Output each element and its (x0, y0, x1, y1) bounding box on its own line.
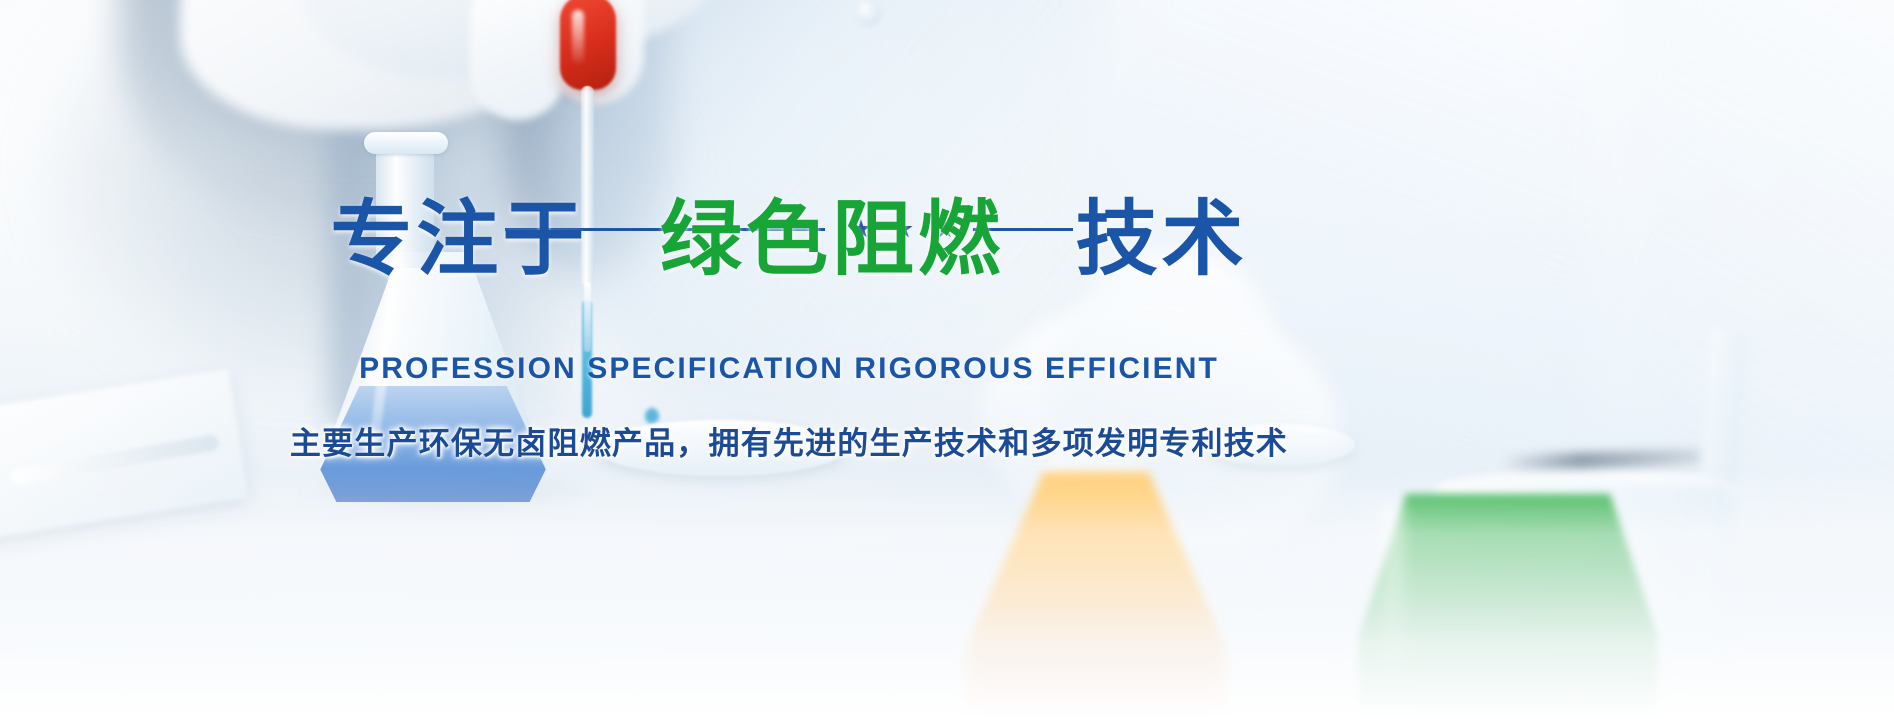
headline-part-2: 绿色阻燃 (660, 194, 1004, 285)
headline: 专注于 绿色阻燃 技术 (0, 196, 1578, 285)
headline-part-1: 专注于 (330, 194, 588, 285)
headline-part-3: 技术 (1076, 194, 1248, 285)
banner-content: 专注于 绿色阻燃 技术 PROFESSION SPECIFICATION RIG… (0, 0, 1894, 719)
tagline-chinese: 主要生产环保无卤阻燃产品，拥有先进的生产技术和多项发明专利技术 (0, 418, 1578, 463)
subtitle-english: PROFESSION SPECIFICATION RIGOROUS EFFICI… (0, 352, 1578, 386)
hero-banner: 专注于 绿色阻燃 技术 PROFESSION SPECIFICATION RIG… (0, 0, 1894, 719)
